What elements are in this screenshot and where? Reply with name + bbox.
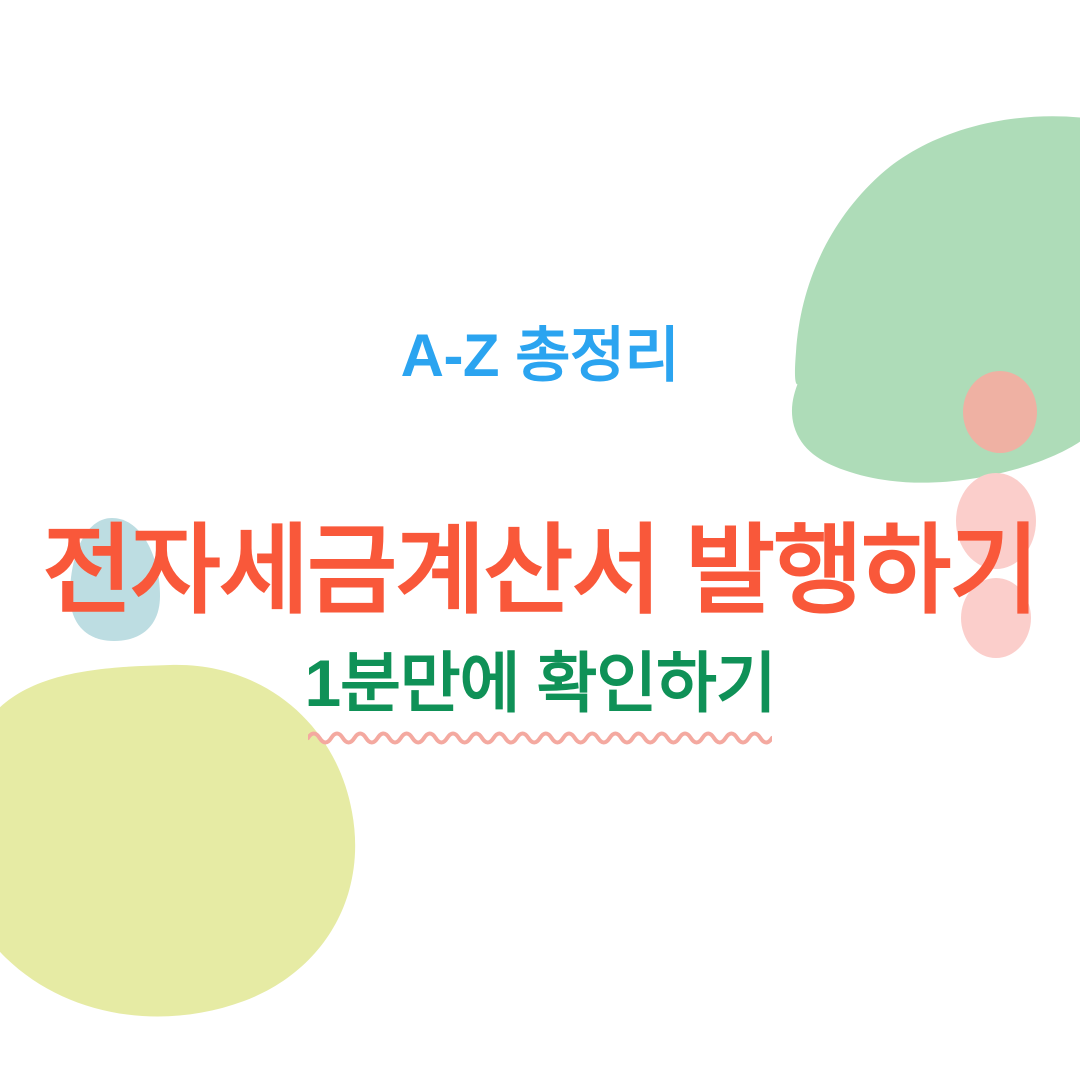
subline-container: 1분만에 확인하기 — [0, 650, 1080, 716]
subline-text: 1분만에 확인하기 — [304, 650, 775, 716]
page-title: 전자세금계산서 발행하기 — [0, 521, 1080, 619]
wavy-underline-icon — [308, 722, 772, 748]
poster-canvas: A-Z 총정리 전자세금계산서 발행하기 1분만에 확인하기 — [0, 0, 1080, 1080]
text-layer: A-Z 총정리 전자세금계산서 발행하기 1분만에 확인하기 — [0, 0, 1080, 1080]
eyebrow-text: A-Z 총정리 — [0, 326, 1080, 386]
